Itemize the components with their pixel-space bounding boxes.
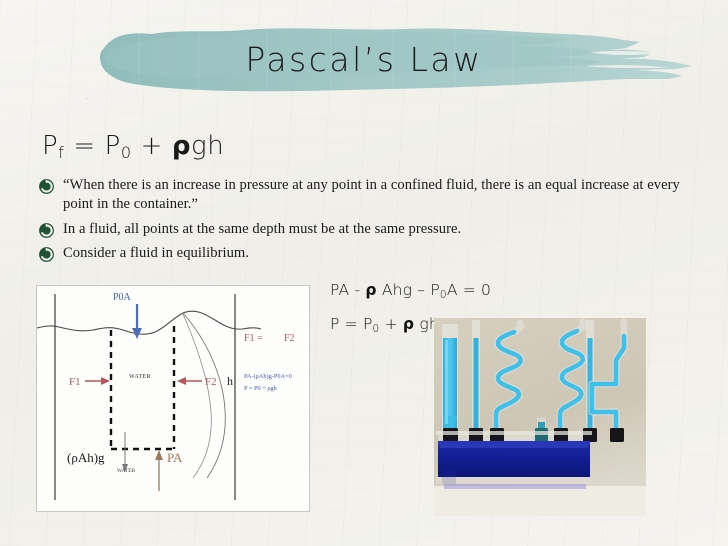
formula-plus: + — [132, 131, 172, 161]
eq2-rho-symbol: ρ — [403, 315, 414, 333]
eq1-pre: PA - — [330, 281, 365, 299]
eq2-pre: P = P — [330, 315, 373, 333]
f2-arrow-head — [177, 377, 186, 385]
pa-label: PA — [167, 450, 183, 465]
f1-equals-label: F1 = — [244, 333, 263, 344]
photo-canvas — [434, 318, 646, 516]
list-item: “When there is an increase in pressure a… — [38, 176, 710, 215]
pascal-pressure-diagram: P0A F1 F2 WATER h WATER (ρAh)g PA F1 = — [36, 285, 310, 512]
formula-rho-symbol: ρ — [172, 131, 191, 161]
formula-p0-base: P — [105, 131, 121, 161]
formula-pf-base: P — [42, 131, 58, 161]
water-small-label: WATER — [117, 468, 136, 474]
f2-right-label: F2 — [284, 333, 295, 344]
formula-gh: gh — [191, 131, 224, 161]
recycle-bullet-icon — [38, 222, 55, 239]
recycle-bullet-icon — [38, 246, 55, 263]
f1-arrow-head — [101, 377, 110, 385]
glass-base — [436, 477, 592, 484]
bullet-list: “When there is an increase in pressure a… — [38, 176, 710, 269]
recycle-bullet-icon — [38, 178, 55, 195]
photo-table-surface — [434, 486, 646, 516]
container-bulge-contour — [183, 313, 225, 478]
list-item-label: In a fluid, all points at the same depth… — [63, 220, 461, 239]
diagram-canvas: P0A F1 F2 WATER h WATER (ρAh)g PA F1 = — [37, 286, 307, 509]
f2-label: F2 — [205, 376, 217, 388]
reservoir-glow-shadow — [444, 484, 586, 489]
list-item: In a fluid, all points at the same depth… — [38, 220, 710, 239]
tube-wide-cylinder — [442, 324, 458, 432]
weight-label: (ρAh)g — [67, 450, 105, 465]
glass-top-rail — [436, 431, 592, 435]
pa-arrow-head — [155, 450, 163, 460]
eq1-post: A = 0 — [447, 281, 491, 299]
eq1-subscript: 0 — [440, 289, 447, 301]
slide-canvas: Pascal’s Law Pf = P0 + ρgh “When there i… — [0, 0, 728, 546]
equation-force-balance: PA - ρ Ahg – P0A = 0 — [330, 281, 491, 301]
pascal-vases-apparatus-photo — [434, 318, 646, 516]
diagram-note-line2: P = P0 + ρgh — [244, 385, 278, 392]
eq2-mid: + — [379, 315, 402, 333]
formula-p0-subscript: 0 — [121, 143, 132, 162]
page-title: Pascal’s Law — [0, 40, 728, 79]
main-formula: Pf = P0 + ρgh — [42, 131, 224, 162]
p0a-label: P0A — [113, 292, 132, 303]
list-item-label: “When there is an increase in pressure a… — [63, 176, 710, 215]
container-bulge-contour-inner — [183, 314, 211, 478]
formula-equals: = — [65, 131, 105, 161]
water-surface-line — [37, 311, 261, 334]
list-item: Consider a fluid in equilibrium. — [38, 244, 710, 263]
water-box-label: WATER — [129, 374, 151, 380]
tube-thin-straight — [472, 320, 480, 432]
list-item-label: Consider a fluid in equilibrium. — [63, 244, 249, 263]
eq1-rho-symbol: ρ — [365, 281, 376, 299]
height-h-label: h — [227, 374, 233, 388]
diagram-note-line1: PA-(ρAh)g-P0A=0 — [244, 373, 292, 380]
eq1-mid: Ahg – P — [377, 281, 440, 299]
f1-label: F1 — [69, 376, 81, 388]
